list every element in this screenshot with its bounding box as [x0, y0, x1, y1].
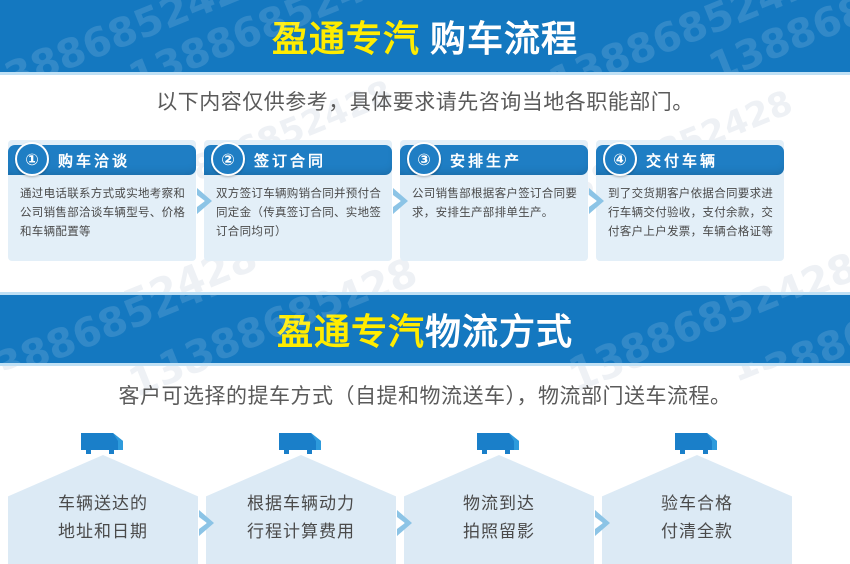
banner-title-highlight: 盈通专汽	[277, 312, 425, 353]
banner-purchase-process: 13886852428 13886852428 13886852428 1388…	[0, 0, 850, 72]
step-card-2[interactable]: 签订合同 ② 双方签订车辆购销合同并预付合同定金（传真签订合同、实地签订合同均可…	[204, 140, 392, 265]
step-card-4[interactable]: 交付车辆 ④ 到了交货期客户依据合同要求进行车辆交付验收，支付余款，交付客户上户…	[596, 140, 784, 265]
chevron-right-icon	[390, 186, 412, 216]
chevron-right-icon	[592, 508, 614, 538]
subtitle-purchase: 以下内容仅供参考，具体要求请先咨询当地各职能部门。	[0, 86, 850, 116]
watermark-text: 13886852428	[703, 0, 850, 72]
step-number-badge: ③	[407, 142, 441, 176]
banner-bottom-edge	[0, 72, 850, 75]
banner-title-highlight: 盈通专汽	[272, 19, 420, 60]
watermark-text: 13886852428	[0, 0, 274, 72]
subtitle-logistics: 客户可选择的提车方式（自提和物流送车），物流部门送车流程。	[0, 380, 850, 410]
step-body-text: 双方签订车辆购销合同并预付合同定金（传真签订合同、实地签订合同均可）	[216, 184, 382, 241]
logistics-card-4[interactable]: 验车合格 付清全款	[602, 430, 792, 564]
step-title: 交付车辆	[646, 150, 718, 171]
truck-icon	[275, 430, 327, 458]
banner-top-edge	[0, 292, 850, 295]
purchase-steps-row: 购车洽谈 ① 通过电话联系方式或实地考察和公司销售部洽谈车辆型号、价格和车辆配置…	[0, 140, 850, 265]
step-card-3[interactable]: 安排生产 ③ 公司销售部根据客户签订合同要求，安排生产部排单生产。	[400, 140, 588, 265]
watermark-text: 13886852428	[0, 295, 264, 363]
chevron-right-icon	[394, 508, 416, 538]
banner-title-group: 盈通专汽购车流程	[272, 10, 578, 62]
step-card-surface: 交付车辆 ④ 到了交货期客户依据合同要求进行车辆交付验收，支付余款，交付客户上户…	[596, 140, 784, 261]
truck-icon	[671, 430, 723, 458]
logistics-line-2: 付清全款	[602, 518, 792, 546]
banner-bottom-edge	[0, 363, 850, 366]
step-title: 签订合同	[254, 150, 326, 171]
step-number-badge: ①	[15, 142, 49, 176]
step-body-text: 通过电话联系方式或实地考察和公司销售部洽谈车辆型号、价格和车辆配置等	[20, 184, 186, 241]
logistics-line-2: 拍照留影	[404, 518, 594, 546]
logistics-card-2[interactable]: 根据车辆动力 行程计算费用	[206, 430, 396, 564]
step-number-badge: ④	[603, 142, 637, 176]
truck-icon	[473, 430, 525, 458]
chevron-right-icon	[196, 508, 218, 538]
page-root: 13886852428 13886852428 13886852428 1388…	[0, 0, 850, 564]
logistics-text: 车辆送达的 地址和日期	[8, 490, 198, 546]
logistics-line-1: 物流到达	[404, 490, 594, 518]
step-title: 安排生产	[450, 150, 522, 171]
truck-icon	[77, 430, 129, 458]
logistics-line-1: 验车合格	[602, 490, 792, 518]
step-title: 购车洽谈	[58, 150, 130, 171]
step-card-1[interactable]: 购车洽谈 ① 通过电话联系方式或实地考察和公司销售部洽谈车辆型号、价格和车辆配置…	[8, 140, 196, 265]
logistics-line-1: 车辆送达的	[8, 490, 198, 518]
logistics-steps-row: 车辆送达的 地址和日期 根据车辆动力 行程计算费用	[0, 430, 850, 564]
banner-title-rest: 物流方式	[425, 312, 573, 353]
logistics-text: 物流到达 拍照留影	[404, 490, 594, 546]
logistics-line-1: 根据车辆动力	[206, 490, 396, 518]
watermark-text: 13886852428	[543, 0, 844, 72]
logistics-text: 验车合格 付清全款	[602, 490, 792, 546]
watermark-text: 13886852428	[563, 295, 850, 363]
step-number-badge: ②	[211, 142, 245, 176]
step-card-surface: 安排生产 ③ 公司销售部根据客户签订合同要求，安排生产部排单生产。	[400, 140, 588, 261]
step-card-surface: 购车洽谈 ① 通过电话联系方式或实地考察和公司销售部洽谈车辆型号、价格和车辆配置…	[8, 140, 196, 261]
logistics-text: 根据车辆动力 行程计算费用	[206, 490, 396, 546]
banner-title-rest: 购车流程	[420, 19, 578, 60]
step-body-text: 公司销售部根据客户签订合同要求，安排生产部排单生产。	[412, 184, 578, 222]
step-card-surface: 签订合同 ② 双方签订车辆购销合同并预付合同定金（传真签订合同、实地签订合同均可…	[204, 140, 392, 261]
logistics-line-2: 行程计算费用	[206, 518, 396, 546]
logistics-line-2: 地址和日期	[8, 518, 198, 546]
step-body-text: 到了交货期客户依据合同要求进行车辆交付验收，支付余款，交付客户上户发票，车辆合格…	[608, 184, 774, 241]
banner-logistics-method: 13886852428 13886852428 13886852428 1388…	[0, 295, 850, 363]
chevron-right-icon	[194, 186, 216, 216]
logistics-card-1[interactable]: 车辆送达的 地址和日期	[8, 430, 198, 564]
watermark-text: 13886852428	[733, 295, 850, 363]
banner-title-group: 盈通专汽物流方式	[277, 303, 573, 355]
logistics-card-3[interactable]: 物流到达 拍照留影	[404, 430, 594, 564]
chevron-right-icon	[586, 186, 608, 216]
